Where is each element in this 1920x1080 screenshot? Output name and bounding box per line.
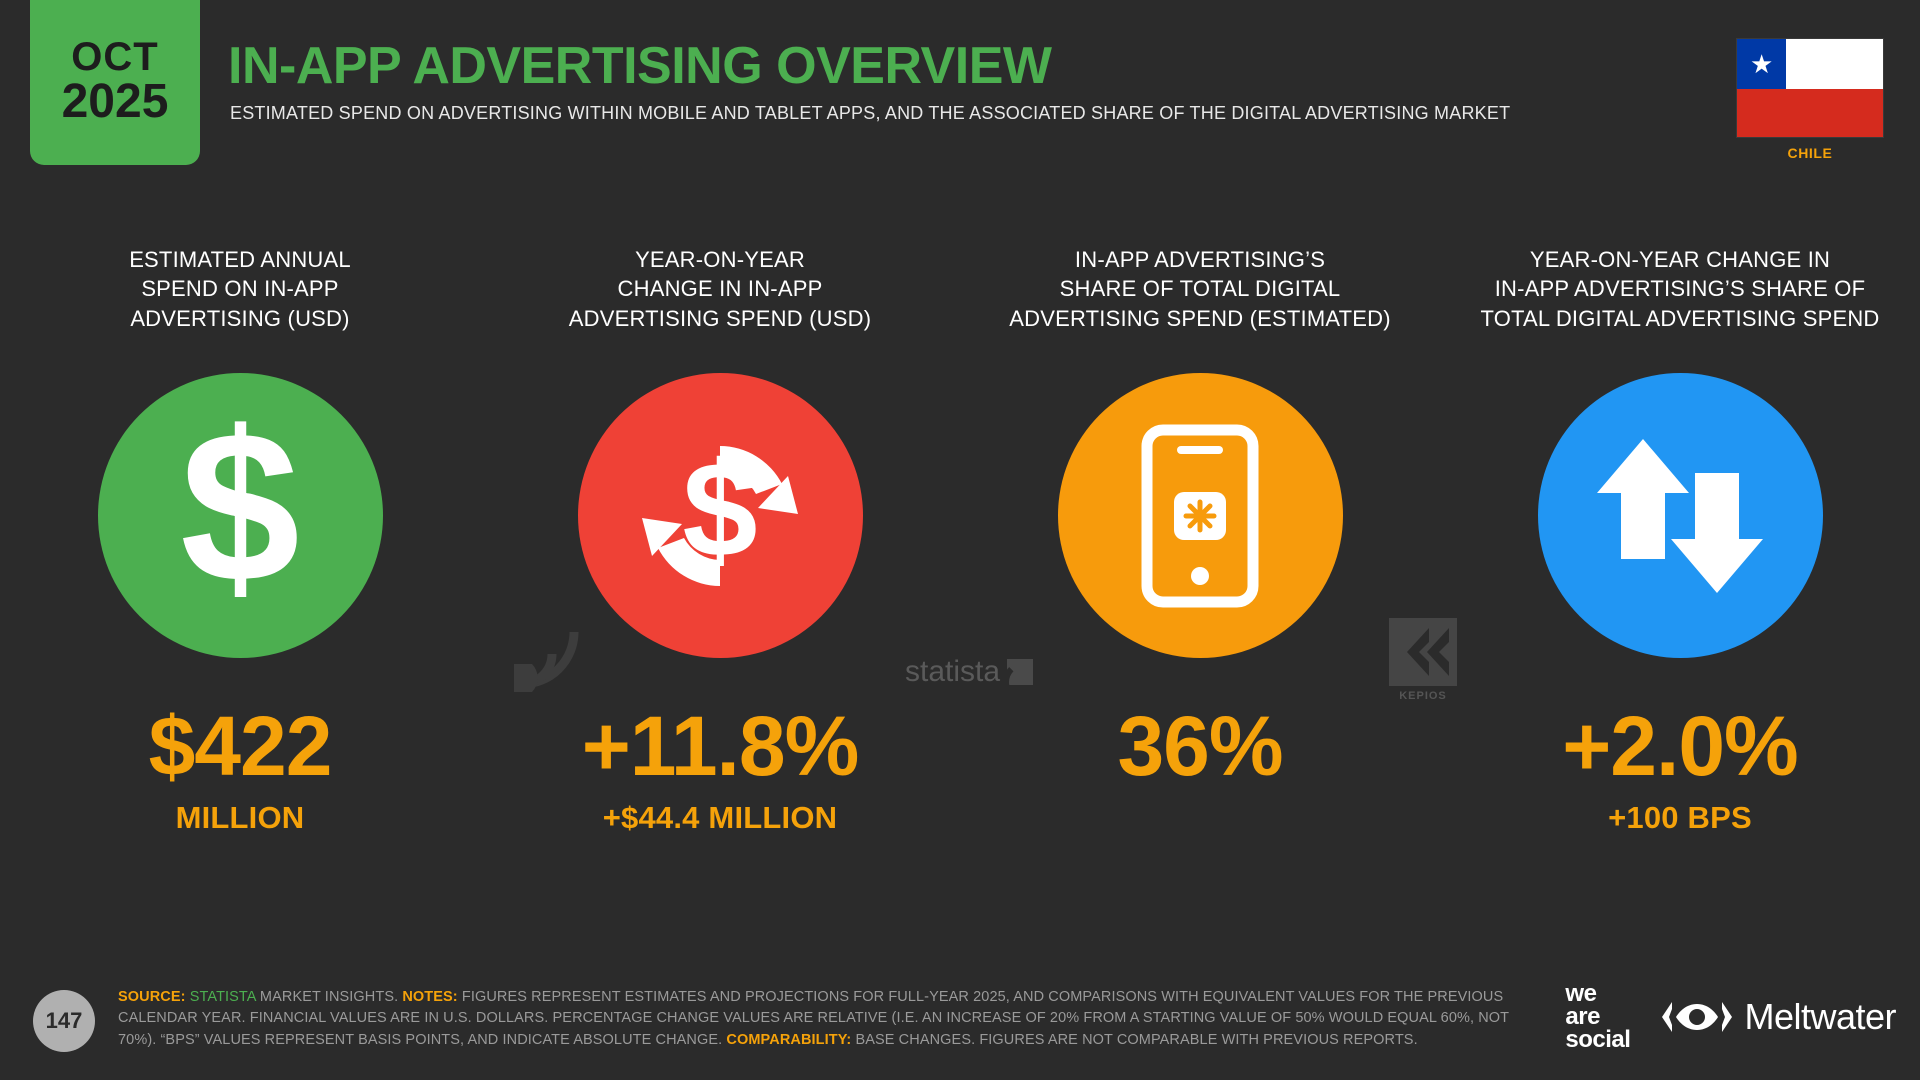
- smartphone-app-icon: [1058, 373, 1343, 658]
- comparability-label: COMPARABILITY:: [726, 1032, 851, 1048]
- metric-heading: YEAR-ON-YEAR CHANGE IN IN-APP ADVERTISIN…: [505, 245, 935, 335]
- slide-root: OCT 2025 IN-APP ADVERTISING OVERVIEW EST…: [0, 0, 1920, 1080]
- country-label: CHILE: [1736, 145, 1884, 161]
- meltwater-logo: Meltwater: [1660, 996, 1896, 1038]
- date-badge: OCT 2025: [30, 0, 200, 165]
- metric-column-yoy-share-change: YEAR-ON-YEAR CHANGE IN IN-APP ADVERTISIN…: [1440, 245, 1920, 836]
- metric-heading: IN-APP ADVERTISING’S SHARE OF TOTAL DIGI…: [985, 245, 1415, 335]
- footer-notes: SOURCE: STATISTA MARKET INSIGHTS. NOTES:…: [118, 987, 1518, 1051]
- source-rest: MARKET INSIGHTS.: [260, 989, 398, 1005]
- flag-white-band: [1786, 39, 1883, 89]
- up-down-arrows-icon: [1538, 373, 1823, 658]
- metric-value: +2.0%: [1562, 704, 1798, 788]
- date-month: OCT: [71, 37, 158, 77]
- metric-subvalue: +100 BPS: [1608, 800, 1752, 836]
- source-name: STATISTA: [190, 989, 256, 1005]
- heading-line: SPEND ON IN-APP: [25, 274, 455, 303]
- flag-red-band: [1737, 89, 1883, 137]
- footer-logos: we are social Meltwater: [1565, 982, 1896, 1051]
- heading-line: ADVERTISING SPEND (ESTIMATED): [985, 304, 1415, 333]
- meltwater-eye-icon: [1660, 1000, 1734, 1034]
- heading-line: CHANGE IN IN-APP: [505, 274, 935, 303]
- metric-subvalue: MILLION: [176, 800, 305, 836]
- page-title: IN-APP ADVERTISING OVERVIEW: [228, 36, 1051, 96]
- meltwater-label: Meltwater: [1744, 996, 1896, 1038]
- metric-value: 36%: [1117, 704, 1282, 788]
- metric-column-annual-spend: ESTIMATED ANNUAL SPEND ON IN-APP ADVERTI…: [0, 245, 480, 836]
- chile-flag-icon: ★: [1736, 38, 1884, 138]
- metric-column-share-of-digital: IN-APP ADVERTISING’S SHARE OF TOTAL DIGI…: [960, 245, 1440, 836]
- heading-line: ADVERTISING (USD): [25, 304, 455, 333]
- logo-line-3: social: [1565, 1028, 1630, 1051]
- metric-subvalue: +$44.4 MILLION: [603, 800, 838, 836]
- heading-line: SHARE OF TOTAL DIGITAL: [985, 274, 1415, 303]
- notes-label: NOTES:: [402, 989, 457, 1005]
- dollar-sign-icon: $: [98, 373, 383, 658]
- we-are-social-logo: we are social: [1565, 982, 1630, 1051]
- flag-star-icon: ★: [1750, 51, 1773, 77]
- metric-value: +11.8%: [582, 704, 859, 788]
- heading-line: YEAR-ON-YEAR: [505, 245, 935, 274]
- svg-text:$: $: [682, 434, 757, 585]
- heading-line: YEAR-ON-YEAR CHANGE IN: [1465, 245, 1895, 274]
- heading-line: IN-APP ADVERTISING’S: [985, 245, 1415, 274]
- country-flag-block: ★ CHILE: [1736, 38, 1884, 161]
- metric-column-yoy-spend-change: YEAR-ON-YEAR CHANGE IN IN-APP ADVERTISIN…: [480, 245, 960, 836]
- svg-text:$: $: [180, 421, 300, 611]
- page-subtitle: ESTIMATED SPEND ON ADVERTISING WITHIN MO…: [230, 103, 1510, 124]
- heading-line: ADVERTISING SPEND (USD): [505, 304, 935, 333]
- comparability-text: BASE CHANGES. FIGURES ARE NOT COMPARABLE…: [855, 1032, 1417, 1048]
- dollar-refresh-icon: $: [578, 373, 863, 658]
- metrics-row: ESTIMATED ANNUAL SPEND ON IN-APP ADVERTI…: [0, 245, 1920, 836]
- source-label: SOURCE:: [118, 989, 186, 1005]
- logo-line-1: we: [1565, 982, 1630, 1005]
- metric-heading: ESTIMATED ANNUAL SPEND ON IN-APP ADVERTI…: [25, 245, 455, 335]
- date-year: 2025: [62, 77, 169, 127]
- logo-line-2: are: [1565, 1005, 1630, 1028]
- heading-line: ESTIMATED ANNUAL: [25, 245, 455, 274]
- heading-line: IN-APP ADVERTISING’S SHARE OF: [1465, 274, 1895, 303]
- page-number-badge: 147: [33, 990, 95, 1052]
- heading-line: TOTAL DIGITAL ADVERTISING SPEND: [1465, 304, 1895, 333]
- metric-heading: YEAR-ON-YEAR CHANGE IN IN-APP ADVERTISIN…: [1465, 245, 1895, 335]
- metric-value: $422: [149, 704, 332, 788]
- footer: 147 SOURCE: STATISTA MARKET INSIGHTS. NO…: [0, 970, 1920, 1080]
